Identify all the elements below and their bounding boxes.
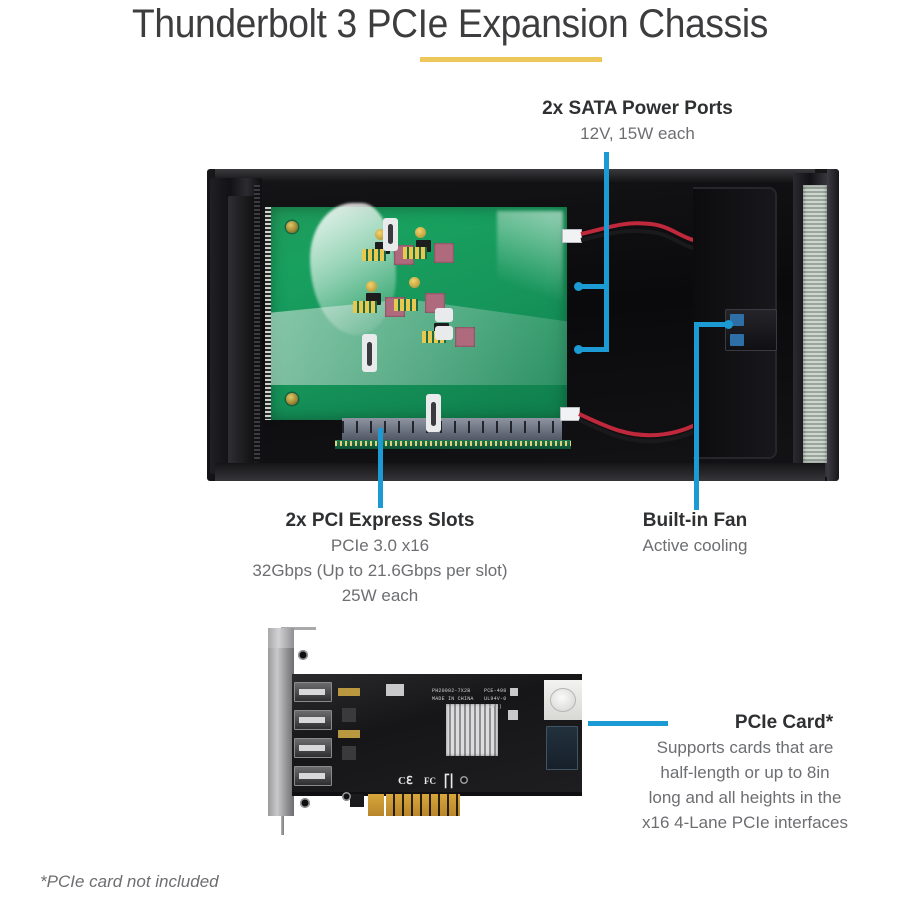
fan-bracket-tab-upper: [435, 308, 453, 322]
cable-clip-top: [383, 218, 398, 251]
footnote-disclaimer: *PCIe card not included: [40, 872, 219, 892]
card-component-i: [510, 688, 518, 696]
chassis-product-image: [207, 169, 837, 481]
card-component-c: [342, 792, 351, 801]
pcie-card-product-image: PH20002-7X2B MADE IN CHINA PCE-408 UL94V…: [246, 626, 586, 838]
callout-pci-line-3: 25W each: [160, 583, 600, 608]
sata-leader-stem: [604, 152, 609, 352]
card-edge-notch: [350, 794, 364, 807]
usb-port-4: [294, 766, 332, 786]
callout-sata-power-ports: 2x SATA Power Ports 12V, 15W each: [490, 96, 785, 146]
chassis-right-face: [827, 169, 839, 481]
fan-leader-branch: [694, 322, 728, 327]
card-gold-fingers-short: [368, 794, 384, 816]
card-component-g: [338, 730, 360, 738]
card-silk-rev: (B/C): [486, 704, 502, 710]
card-gold-fingers: [386, 794, 460, 816]
card-silk-origin: MADE IN CHINA: [432, 696, 474, 702]
card-qc-stamp: [550, 688, 576, 712]
fan-terminal-b: [730, 334, 744, 346]
usb-port-1: [294, 682, 332, 702]
cable-clip-slot: [431, 402, 436, 426]
callout-fan-line-1: Active cooling: [580, 533, 810, 558]
card-silk-part-number: PH20002-7X2B: [432, 688, 470, 694]
sata-leader-dot-lower: [574, 345, 583, 354]
card-component-d: [342, 708, 356, 722]
card-silk-model: PCE-408: [484, 688, 506, 694]
pci-slots-leader-stem: [378, 428, 383, 508]
card-qc-label: [544, 680, 582, 720]
weee-mark-icon: ⎡⎢: [444, 774, 456, 789]
chassis-vent-panel: [803, 185, 827, 463]
callout-pci-line-1: PCIe 3.0 x16: [160, 533, 600, 558]
usb-port-2: [294, 710, 332, 730]
callout-sata-heading: 2x SATA Power Ports: [490, 96, 785, 121]
card-sata-power-header: [546, 726, 578, 770]
callout-pcie-card: PCIe Card* Supports cards that are half-…: [600, 710, 890, 835]
callout-pcie-card-line-1: Supports cards that are: [600, 735, 890, 760]
callout-pcie-card-line-2: half-length or up to 8in: [600, 760, 890, 785]
card-heatsink: [446, 704, 498, 756]
cable-clip-slot: [367, 342, 372, 366]
infographic-page: Thunderbolt 3 PCIe Expansion Chassis: [0, 0, 900, 900]
callout-pci-line-2: 32Gbps (Up to 21.6Gbps per slot): [160, 558, 600, 583]
card-gold-finger-gaps: [386, 794, 460, 816]
card-component-e: [342, 746, 356, 760]
callout-pci-express-slots: 2x PCI Express Slots PCIe 3.0 x16 32Gbps…: [160, 508, 600, 608]
cable-clip-bottom: [426, 394, 441, 432]
cable-clip-middle: [362, 334, 377, 372]
usb-port-insert: [299, 773, 325, 779]
fcc-mark-icon: FC: [424, 776, 436, 786]
built-in-fan: [725, 309, 777, 351]
callout-built-in-fan: Built-in Fan Active cooling: [580, 508, 810, 558]
callout-pci-heading: 2x PCI Express Slots: [160, 508, 600, 533]
card-silk-ul: UL94V-0: [484, 696, 506, 702]
fan-bracket-tab-lower: [435, 326, 453, 340]
card-bracket-top-tab: [268, 628, 294, 650]
chassis-bottom-lip: [215, 463, 825, 481]
callout-pcie-card-line-3: long and all heights in the: [600, 785, 890, 810]
usb-port-insert: [299, 689, 325, 695]
fan-leader-dot: [724, 320, 733, 329]
cable-clip-slot: [388, 224, 393, 244]
callout-pcie-card-line-4: x16 4-Lane PCIe interfaces: [600, 810, 890, 835]
card-component-a: [298, 650, 308, 660]
rohs-mark-icon: [460, 776, 468, 784]
callout-pcie-card-heading: PCIe Card*: [678, 710, 890, 735]
usb-port-insert: [299, 717, 325, 723]
card-component-b: [300, 798, 310, 808]
callout-fan-heading: Built-in Fan: [580, 508, 810, 533]
page-title: Thunderbolt 3 PCIe Expansion Chassis: [32, 2, 869, 47]
ce-mark-icon: Cℇ: [398, 774, 413, 787]
sata-leader-dot-upper: [574, 282, 583, 291]
card-mounting-bracket: [268, 648, 294, 816]
card-component-h: [386, 684, 404, 696]
usb-port-3: [294, 738, 332, 758]
card-component-j: [508, 710, 518, 720]
usb-port-insert: [299, 745, 325, 751]
callout-sata-line-1: 12V, 15W each: [490, 121, 785, 146]
title-underline-accent: [420, 57, 602, 62]
card-component-f: [338, 688, 360, 696]
fan-leader-stem: [694, 322, 699, 510]
